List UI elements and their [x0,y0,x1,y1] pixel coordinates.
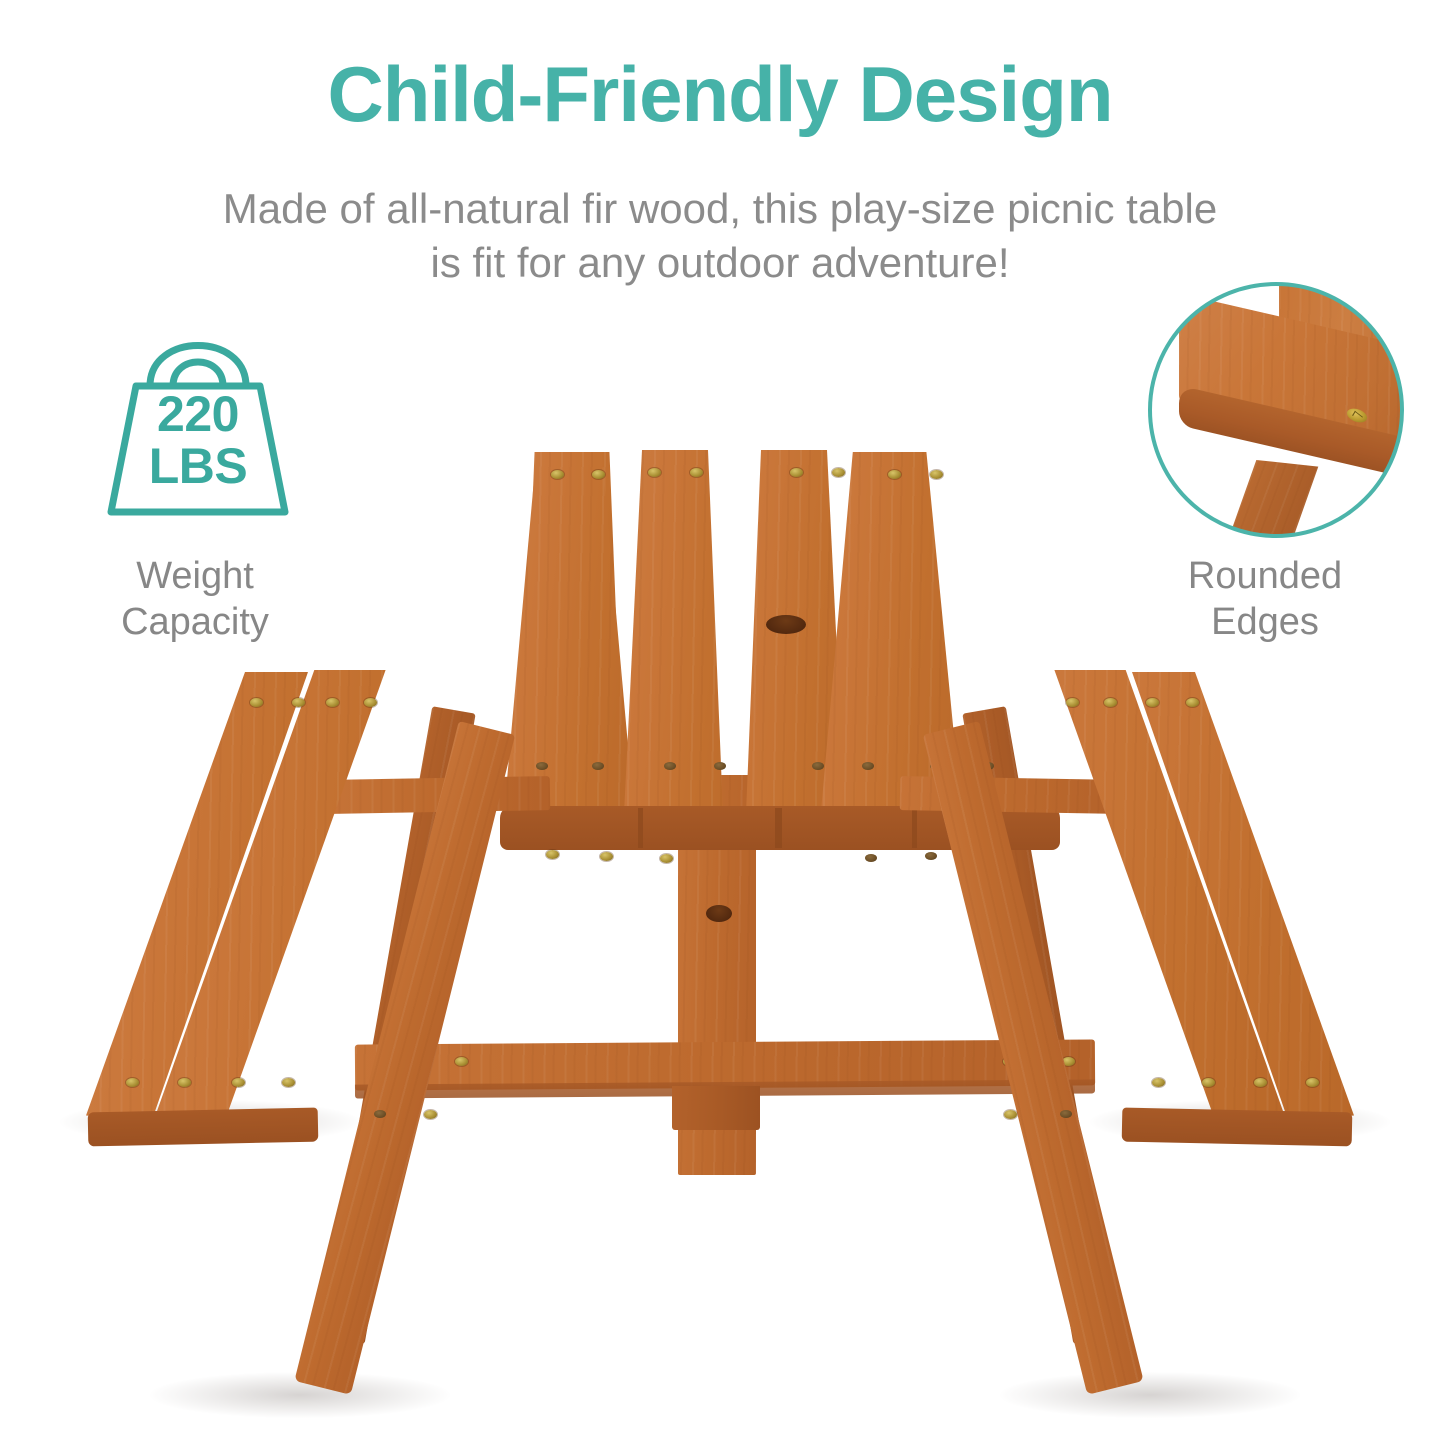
screw-bench-left-6 [178,1078,191,1087]
screw-bench-right-1 [1066,698,1079,707]
page-title: Child-Friendly Design [0,52,1440,136]
tabletop-slat-2 [612,450,762,814]
screw-leg-right-1 [1004,1110,1017,1119]
screw-top-far-5 [790,468,803,477]
screw-top-near-5 [812,762,824,770]
screw-bench-left-1 [250,698,263,707]
screw-top-far-7 [888,470,901,479]
bench-right-front-edge [1122,1108,1353,1147]
screw-top-far-8 [930,470,943,479]
screw-bench-right-2 [1104,698,1117,707]
screw-leg-left-2 [424,1110,437,1119]
screw-bench-left-8 [282,1078,295,1087]
floor-shadow-right [1000,1372,1300,1418]
screw-top-far-2 [592,470,605,479]
tabletop-edge-gap-2 [775,808,782,848]
bench-support-bar-right [900,776,1121,814]
screw-bench-left-3 [326,698,339,707]
tabletop-edge-gap-1 [638,808,643,848]
center-post-hole [706,905,732,922]
screw-apron-2 [600,852,613,861]
screw-top-far-1 [551,470,564,479]
subtitle-line-2: is fit for any outdoor adventure! [140,236,1300,290]
screw-bench-left-4 [364,698,377,707]
screw-leg-left-1 [374,1110,386,1118]
screw-bench-right-6 [1202,1078,1215,1087]
page-subtitle: Made of all-natural fir wood, this play-… [140,182,1300,290]
screw-bench-left-2 [292,698,305,707]
umbrella-hole [766,615,806,634]
tabletop-edge-gap-3 [912,808,917,848]
screw-top-far-4 [690,468,703,477]
screw-top-far-3 [648,468,661,477]
screw-bench-left-7 [232,1078,245,1087]
screw-top-near-1 [536,762,548,770]
screw-top-far-6 [832,468,845,477]
screw-top-near-3 [664,762,676,770]
product-image-picnic-table [0,410,1440,1440]
screw-top-near-4 [714,762,726,770]
screw-bench-right-8 [1306,1078,1319,1087]
marketing-image-canvas: Child-Friendly Design Made of all-natura… [0,0,1440,1440]
screw-bench-right-5 [1152,1078,1165,1087]
subtitle-line-1: Made of all-natural fir wood, this play-… [140,182,1300,236]
rounded-edges-callout [1148,282,1404,538]
center-cleat [672,1086,760,1130]
tabletop-slat-1-body [498,452,646,814]
screw-leg-right-2 [1060,1110,1072,1118]
screw-bench-right-3 [1146,698,1159,707]
screw-stretcher-2 [455,1057,468,1066]
screw-bench-right-4 [1186,698,1199,707]
screw-top-near-6 [862,762,874,770]
magnifier-ring [1148,282,1404,538]
screw-apron-5 [925,852,937,860]
bench-left-front-edge [88,1108,319,1147]
screw-apron-1 [546,850,559,859]
screw-apron-4 [865,854,877,862]
screw-bench-right-7 [1254,1078,1267,1087]
screw-top-near-2 [592,762,604,770]
screw-bench-left-5 [126,1078,139,1087]
screw-apron-3 [660,854,673,863]
